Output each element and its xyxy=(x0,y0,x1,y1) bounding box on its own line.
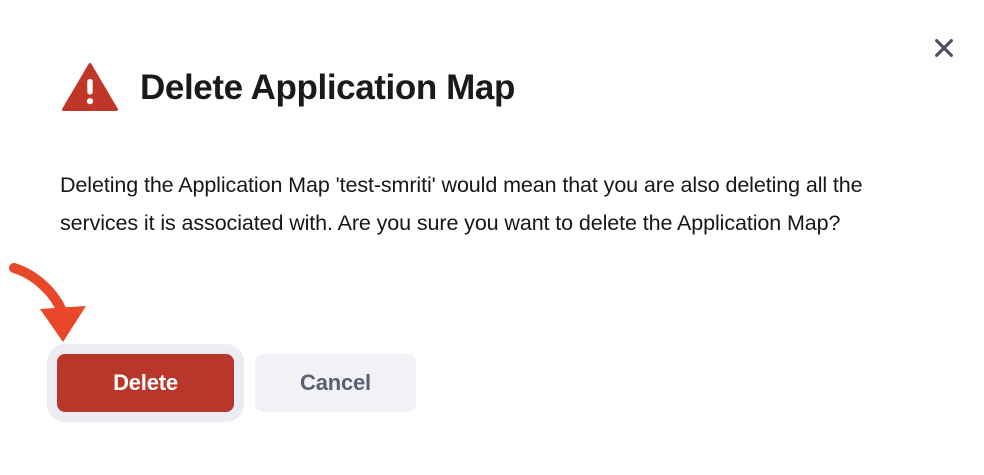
dialog-title: Delete Application Map xyxy=(140,70,515,105)
delete-button[interactable]: Delete xyxy=(57,354,234,412)
annotation-arrow-icon xyxy=(0,252,110,352)
delete-confirmation-dialog: Delete Application Map Deleting the Appl… xyxy=(0,0,984,475)
warning-triangle-icon xyxy=(62,62,118,112)
cancel-button[interactable]: Cancel xyxy=(255,354,416,412)
close-icon xyxy=(933,37,955,59)
dialog-header: Delete Application Map xyxy=(62,62,515,112)
close-button[interactable] xyxy=(924,28,964,68)
dialog-actions: Delete Cancel xyxy=(57,354,416,412)
dialog-body-text: Deleting the Application Map 'test-smrit… xyxy=(60,166,940,242)
